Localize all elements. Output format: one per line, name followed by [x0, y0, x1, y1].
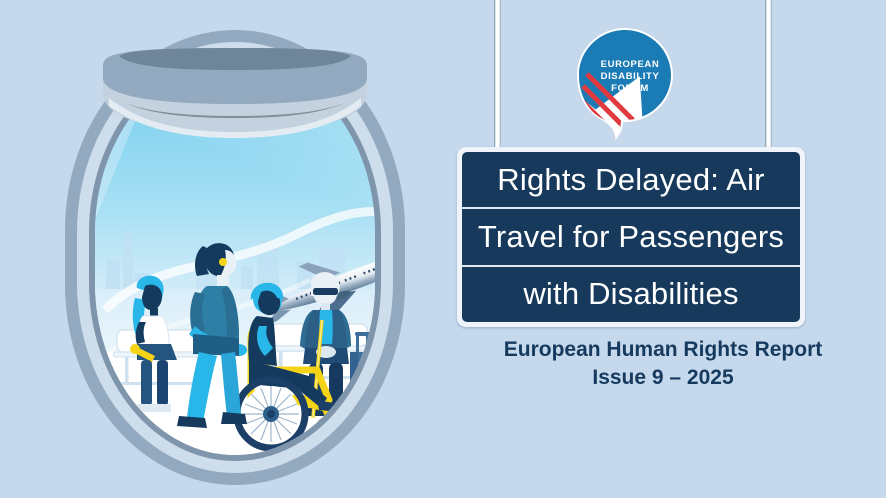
title-sign-board: Rights Delayed: Air Travel for Passenger…: [457, 147, 805, 327]
title-line-1: Rights Delayed: Air: [462, 152, 800, 207]
report-subtitle: European Human Rights Report Issue 9 – 2…: [440, 336, 886, 392]
hanging-pole-left: [494, 0, 501, 158]
subtitle-line-1: European Human Rights Report: [440, 336, 886, 364]
subtitle-line-2: Issue 9 – 2025: [440, 364, 886, 392]
title-line-3: with Disabilities: [462, 265, 800, 322]
window-shade: [89, 48, 381, 153]
title-sign-inner: Rights Delayed: Air Travel for Passenger…: [462, 152, 800, 322]
poster-canvas: EUROPEAN DISABILITY FORUM Rights Delayed…: [0, 0, 886, 498]
hanging-pole-right: [765, 0, 772, 158]
airplane-window-illustration: [33, 18, 433, 488]
attendant-pushing-wheelchair: [173, 230, 283, 448]
title-line-2: Travel for Passengers: [462, 207, 800, 264]
european-disability-forum-logo[interactable]: EUROPEAN DISABILITY FORUM: [577, 28, 673, 140]
logo-speech-bubble-icon: [577, 28, 673, 140]
